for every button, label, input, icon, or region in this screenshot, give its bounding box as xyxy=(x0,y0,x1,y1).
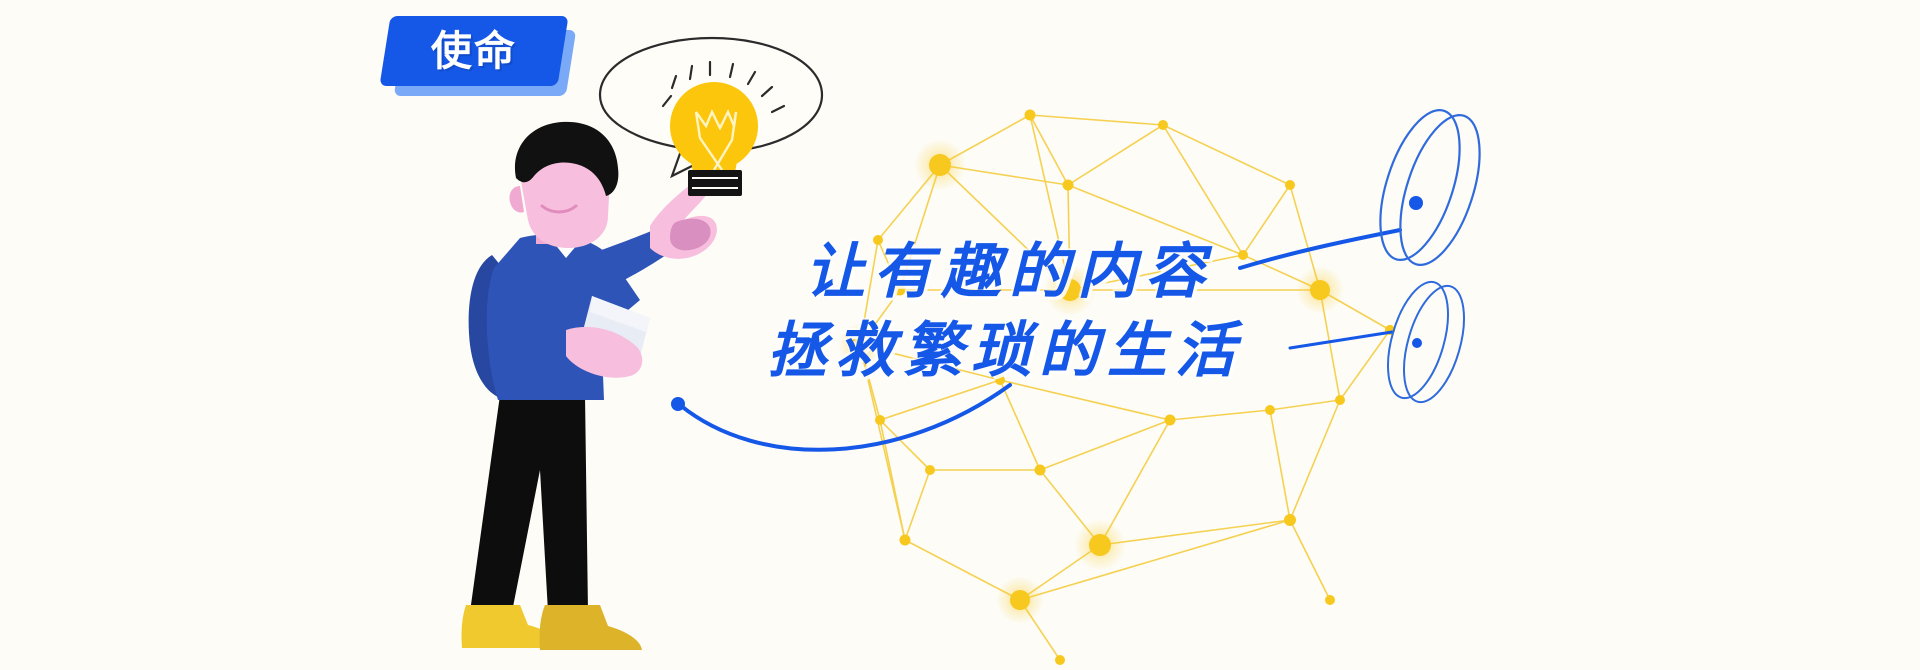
banner-canvas: 使命 让有趣的内容 拯救繁琐的生活 xyxy=(0,0,1920,670)
bulb-base xyxy=(688,170,742,196)
idea-speech-bubble xyxy=(0,0,1920,670)
